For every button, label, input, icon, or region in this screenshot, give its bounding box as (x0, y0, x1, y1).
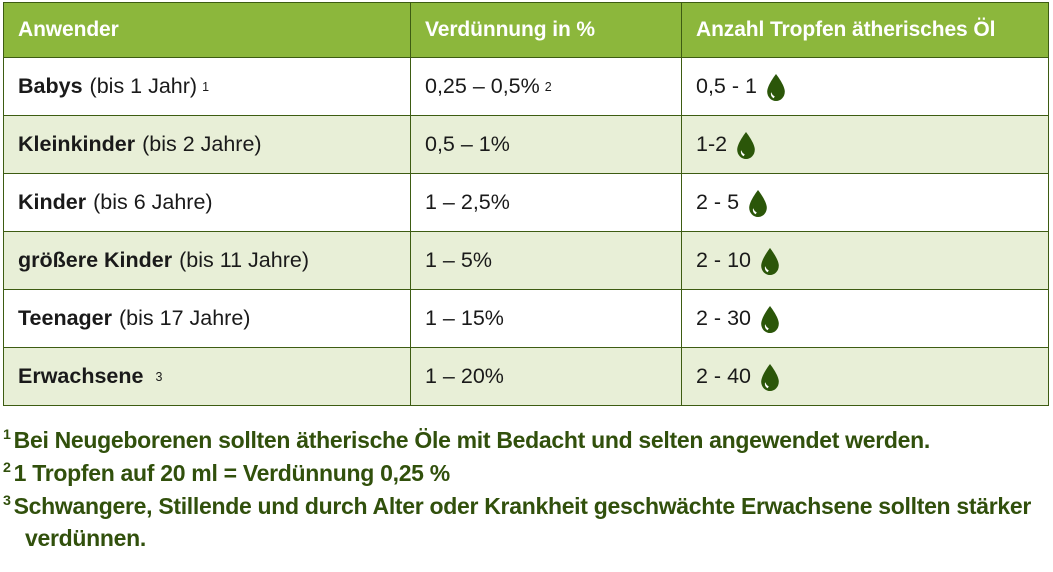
dilution-value: 1 – 15% (425, 306, 504, 331)
footnote-marker: 3 (3, 493, 11, 509)
group-name: Kinder (18, 190, 86, 215)
footnote-marker: 2 (3, 460, 11, 476)
drops-value: 2 - 5 (696, 190, 739, 215)
group-qualifier: (bis 11 Jahre) (179, 248, 309, 273)
group-qualifier: (bis 2 Jahre) (142, 132, 262, 157)
cell-tropfen: 2 - 5 (682, 174, 1049, 232)
droplet-icon (760, 306, 780, 333)
droplet-icon (736, 132, 756, 159)
table-header-row: Anwender Verdünnung in % Anzahl Tropfen … (4, 3, 1049, 58)
footnote-text: 1 Tropfen auf 20 ml = Verdünnung 0,25 % (14, 460, 450, 486)
group-name: größere Kinder (18, 248, 172, 273)
footnote-text: Schwangere, Stillende und durch Alter od… (14, 493, 1031, 551)
footnote-text: Bei Neugeborenen sollten ätherische Öle … (14, 427, 930, 453)
table-row: größere Kinder (bis 11 Jahre) 1 – 5% 2 -… (4, 232, 1049, 290)
cell-tropfen: 2 - 30 (682, 290, 1049, 348)
cell-anwender: Babys (bis 1 Jahr) 1 (4, 58, 411, 116)
column-header-verduennung: Verdünnung in % (411, 3, 682, 58)
footnote-marker: 1 (3, 427, 11, 443)
group-name: Erwachsene (18, 364, 143, 389)
footnote-item: 21 Tropfen auf 20 ml = Verdünnung 0,25 % (3, 457, 1048, 489)
footnote-item: 3Schwangere, Stillende und durch Alter o… (3, 490, 1048, 554)
dilution-value: 0,5 – 1% (425, 132, 510, 157)
drops-value: 1-2 (696, 132, 727, 157)
group-qualifier: (bis 6 Jahre) (93, 190, 213, 215)
cell-verduennung: 1 – 20% (411, 348, 682, 406)
droplet-icon (766, 74, 786, 101)
dilution-value: 0,25 – 0,5% (425, 74, 540, 99)
cell-verduennung: 1 – 5% (411, 232, 682, 290)
group-qualifier: (bis 1 Jahr) (90, 74, 198, 99)
cell-tropfen: 2 - 40 (682, 348, 1049, 406)
dilution-value: 1 – 2,5% (425, 190, 510, 215)
cell-verduennung: 0,25 – 0,5% 2 (411, 58, 682, 116)
droplet-icon (748, 190, 768, 217)
cell-verduennung: 1 – 2,5% (411, 174, 682, 232)
dilution-chart-page: Anwender Verdünnung in % Anzahl Tropfen … (0, 0, 1053, 572)
column-header-anwender: Anwender (4, 3, 411, 58)
drops-value: 0,5 - 1 (696, 74, 757, 99)
group-qualifier: (bis 17 Jahre) (119, 306, 250, 331)
droplet-icon (760, 248, 780, 275)
droplet-icon (760, 364, 780, 391)
footnote-item: 1Bei Neugeborenen sollten ätherische Öle… (3, 424, 1048, 456)
drops-value: 2 - 10 (696, 248, 751, 273)
table-row: Kinder (bis 6 Jahre) 1 – 2,5% 2 - 5 (4, 174, 1049, 232)
table-body: Babys (bis 1 Jahr) 1 0,25 – 0,5% 2 0,5 -… (4, 58, 1049, 406)
table-row: Kleinkinder (bis 2 Jahre) 0,5 – 1% 1-2 (4, 116, 1049, 174)
dilution-value: 1 – 5% (425, 248, 492, 273)
table-header: Anwender Verdünnung in % Anzahl Tropfen … (4, 3, 1049, 58)
cell-anwender: Kinder (bis 6 Jahre) (4, 174, 411, 232)
table-row: Erwachsene 3 1 – 20% 2 - 40 (4, 348, 1049, 406)
dilution-value: 1 – 20% (425, 364, 504, 389)
group-name: Babys (18, 74, 83, 99)
cell-anwender: Kleinkinder (bis 2 Jahre) (4, 116, 411, 174)
footnotes-section: 1Bei Neugeborenen sollten ätherische Öle… (3, 424, 1048, 555)
cell-anwender: größere Kinder (bis 11 Jahre) (4, 232, 411, 290)
cell-anwender: Erwachsene 3 (4, 348, 411, 406)
cell-tropfen: 0,5 - 1 (682, 58, 1049, 116)
group-name: Kleinkinder (18, 132, 135, 157)
cell-verduennung: 1 – 15% (411, 290, 682, 348)
table-row: Babys (bis 1 Jahr) 1 0,25 – 0,5% 2 0,5 -… (4, 58, 1049, 116)
group-name: Teenager (18, 306, 112, 331)
cell-tropfen: 1-2 (682, 116, 1049, 174)
column-header-tropfen: Anzahl Tropfen ätherisches Öl (682, 3, 1049, 58)
table-row: Teenager (bis 17 Jahre) 1 – 15% 2 - 30 (4, 290, 1049, 348)
drops-value: 2 - 40 (696, 364, 751, 389)
cell-anwender: Teenager (bis 17 Jahre) (4, 290, 411, 348)
cell-tropfen: 2 - 10 (682, 232, 1049, 290)
drops-value: 2 - 30 (696, 306, 751, 331)
dilution-table: Anwender Verdünnung in % Anzahl Tropfen … (3, 2, 1049, 406)
cell-verduennung: 0,5 – 1% (411, 116, 682, 174)
